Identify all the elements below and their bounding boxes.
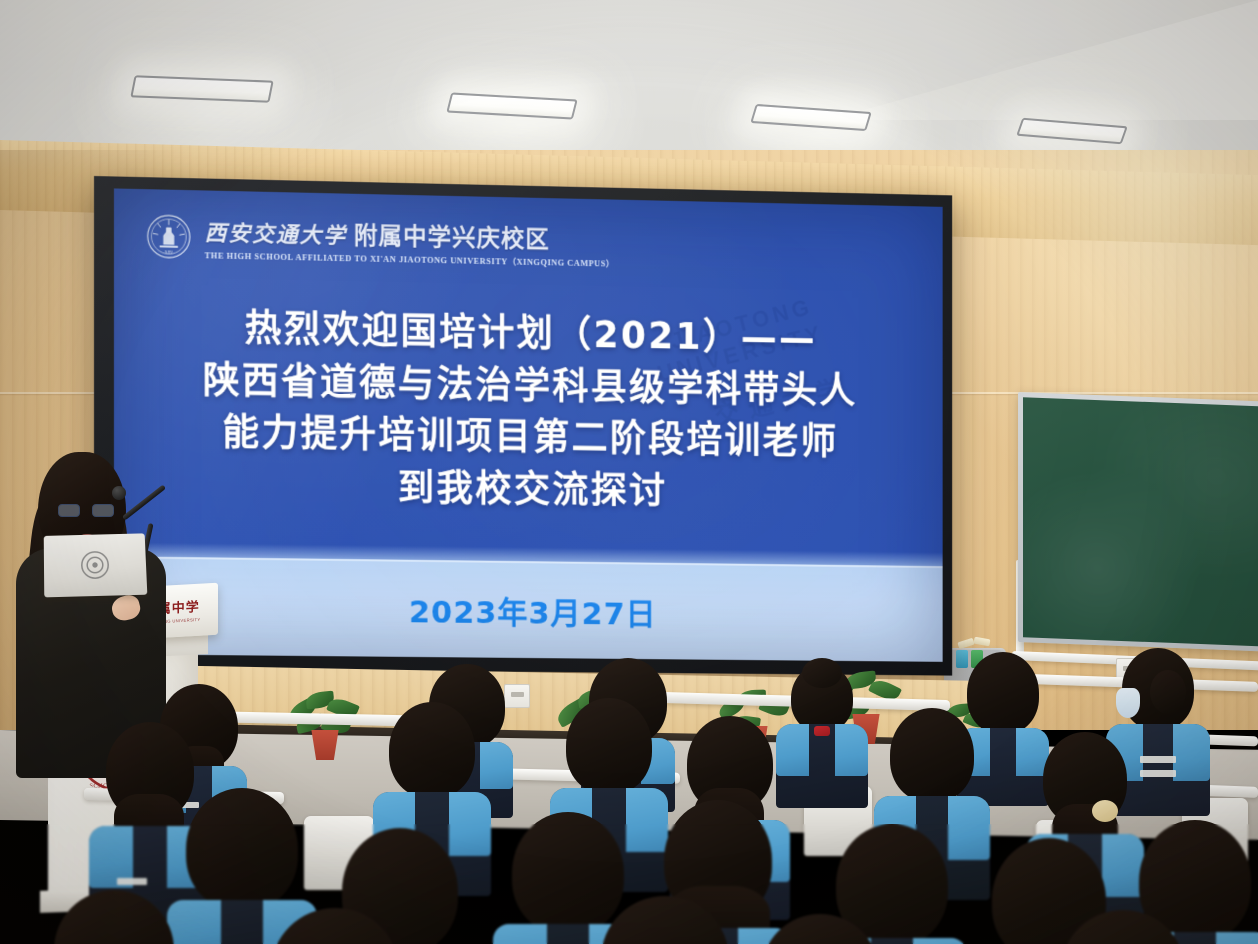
student xyxy=(380,702,484,838)
slide-date: 2023年3月27日 xyxy=(114,583,943,636)
header-cn-part-a: 西安交通大学 xyxy=(205,215,347,250)
uniform-reflective-strip xyxy=(117,878,147,885)
uniform-shoulder-right xyxy=(1216,932,1258,944)
student xyxy=(270,908,400,944)
xjtu-crest-icon: XJTU xyxy=(146,213,192,260)
slide-title: 热烈欢迎国培计划（2021）—— 陕西省道德与法治学科县级学科带头人 能力提升培… xyxy=(114,300,943,521)
student-head xyxy=(566,698,652,794)
header-cn-part-b: 附属中学兴庆校区 xyxy=(354,216,550,255)
face-mask-icon xyxy=(1116,688,1140,718)
student xyxy=(600,896,730,944)
student-hair-bun xyxy=(802,658,842,688)
student xyxy=(1060,910,1186,944)
presentation-screen[interactable]: JIAOTONG UNIVERSITY 交通大学 xyxy=(114,188,943,661)
student-head xyxy=(54,890,174,944)
uniform-shoulder-left xyxy=(167,900,221,944)
uniform-shoulder-right xyxy=(1173,724,1210,781)
uniform-reflective-strip xyxy=(1140,756,1176,763)
student-head xyxy=(271,908,399,944)
laptop-logo-icon xyxy=(80,550,111,580)
student-head xyxy=(601,896,729,944)
microphone-head-icon xyxy=(112,486,126,500)
uniform-reflective-strip xyxy=(1140,770,1176,777)
slide-header: XJTU 西安交通大学 附属中学兴庆校区 THE HIGH SCHOOL AFF… xyxy=(146,211,615,269)
uniform-shoulder-right xyxy=(835,724,868,776)
student xyxy=(780,658,864,768)
svg-text:XJTU: XJTU xyxy=(165,250,173,254)
uniform-shoulder-right xyxy=(480,742,513,789)
speaker-glasses-icon xyxy=(58,504,114,518)
student-head xyxy=(186,788,298,910)
student-head xyxy=(1061,910,1185,944)
glasses-lens-left xyxy=(58,504,80,517)
student-uniform xyxy=(776,724,868,808)
student-head xyxy=(389,702,475,798)
lecture-hall-photo: JIAOTONG UNIVERSITY 交通大学 xyxy=(0,0,1258,944)
uniform-red-accent xyxy=(814,726,830,736)
uniform-shoulder-right xyxy=(913,938,967,944)
student-head xyxy=(761,914,879,944)
uniform-shoulder-left xyxy=(493,924,547,944)
student-audience xyxy=(0,640,1258,944)
blackboard xyxy=(1018,392,1258,652)
slide-header-chinese: 西安交通大学 附属中学兴庆校区 xyxy=(205,212,615,255)
blackboard-surface xyxy=(1023,397,1258,647)
laptop[interactable] xyxy=(44,533,148,597)
student xyxy=(760,914,880,944)
student xyxy=(54,890,174,944)
blackboard-frame xyxy=(1018,392,1258,652)
glasses-lens-right xyxy=(92,504,114,517)
hair-scrunchie xyxy=(1092,800,1118,822)
student-head xyxy=(890,708,974,802)
slide-header-text: 西安交通大学 附属中学兴庆校区 THE HIGH SCHOOL AFFILIAT… xyxy=(205,212,615,269)
presentation-screen-frame: JIAOTONG UNIVERSITY 交通大学 xyxy=(94,176,952,676)
student-hair-bun xyxy=(1150,670,1186,714)
